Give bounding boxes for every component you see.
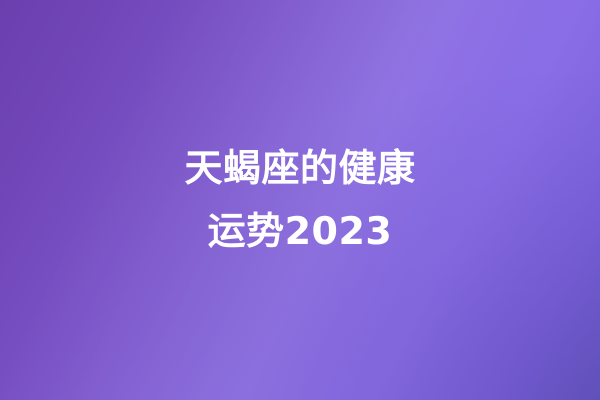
zodiac-horoscope-banner: 天蝎座的健康 运势2023 (0, 0, 600, 400)
headline-line-2: 运势2023 (208, 200, 393, 263)
headline-line-1: 天蝎座的健康 (184, 137, 415, 200)
banner-headline: 天蝎座的健康 运势2023 (0, 0, 600, 400)
